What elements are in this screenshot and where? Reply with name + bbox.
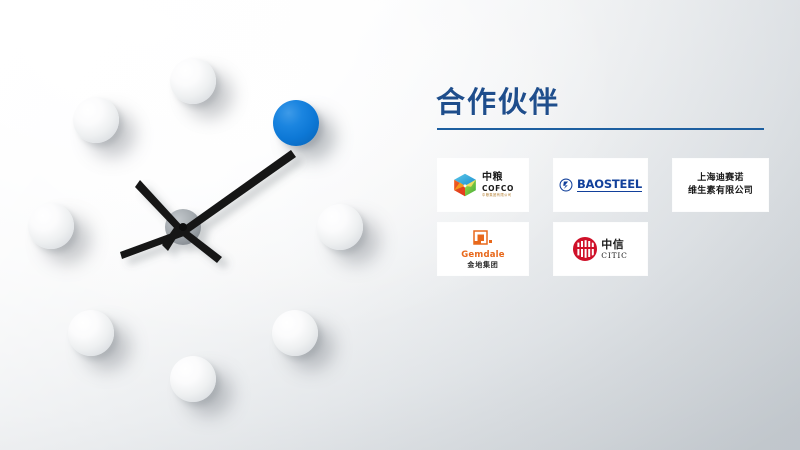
partner-card-shanghai-desano[interactable]: 上海迪赛诺 维生素有限公司: [673, 159, 768, 211]
wall-clock-image: [0, 0, 400, 450]
gemdale-cn-label: 金地集团: [467, 262, 498, 269]
partner-logo-grid: 中粮 COFCO 中粮集团有限公司 BAOSTEEL: [438, 159, 774, 275]
baosteel-emblem-icon: [559, 178, 573, 192]
partner-card-gemdale[interactable]: Gemdale 金地集团: [438, 223, 528, 275]
cofco-en-label: COFCO: [482, 185, 514, 193]
partner-card-cofco[interactable]: 中粮 COFCO 中粮集团有限公司: [438, 159, 528, 211]
citic-cn-label: 中信: [601, 239, 624, 250]
slide-root: 合作伙伴: [0, 0, 800, 450]
clock-hands-icon: [0, 0, 400, 450]
citic-emblem-icon: [573, 237, 597, 261]
baosteel-label: BAOSTEEL: [577, 179, 642, 193]
gemdale-mark-icon: [473, 230, 493, 248]
page-title: 合作伙伴: [436, 86, 774, 119]
cofco-cube-icon: [452, 172, 478, 198]
partner-card-baosteel[interactable]: BAOSTEEL: [554, 159, 647, 211]
gemdale-en-label: Gemdale: [461, 251, 505, 260]
desano-line-2: 维生素有限公司: [688, 185, 753, 199]
cofco-cn-label: 中粮: [482, 173, 503, 183]
partner-card-citic[interactable]: 中信 CITIC: [554, 223, 647, 275]
title-underline: [437, 128, 764, 130]
partners-panel: 合作伙伴: [430, 86, 774, 275]
citic-en-label: CITIC: [601, 252, 627, 260]
cofco-tagline: 中粮集团有限公司: [482, 194, 512, 197]
desano-line-1: 上海迪赛诺: [688, 172, 753, 186]
